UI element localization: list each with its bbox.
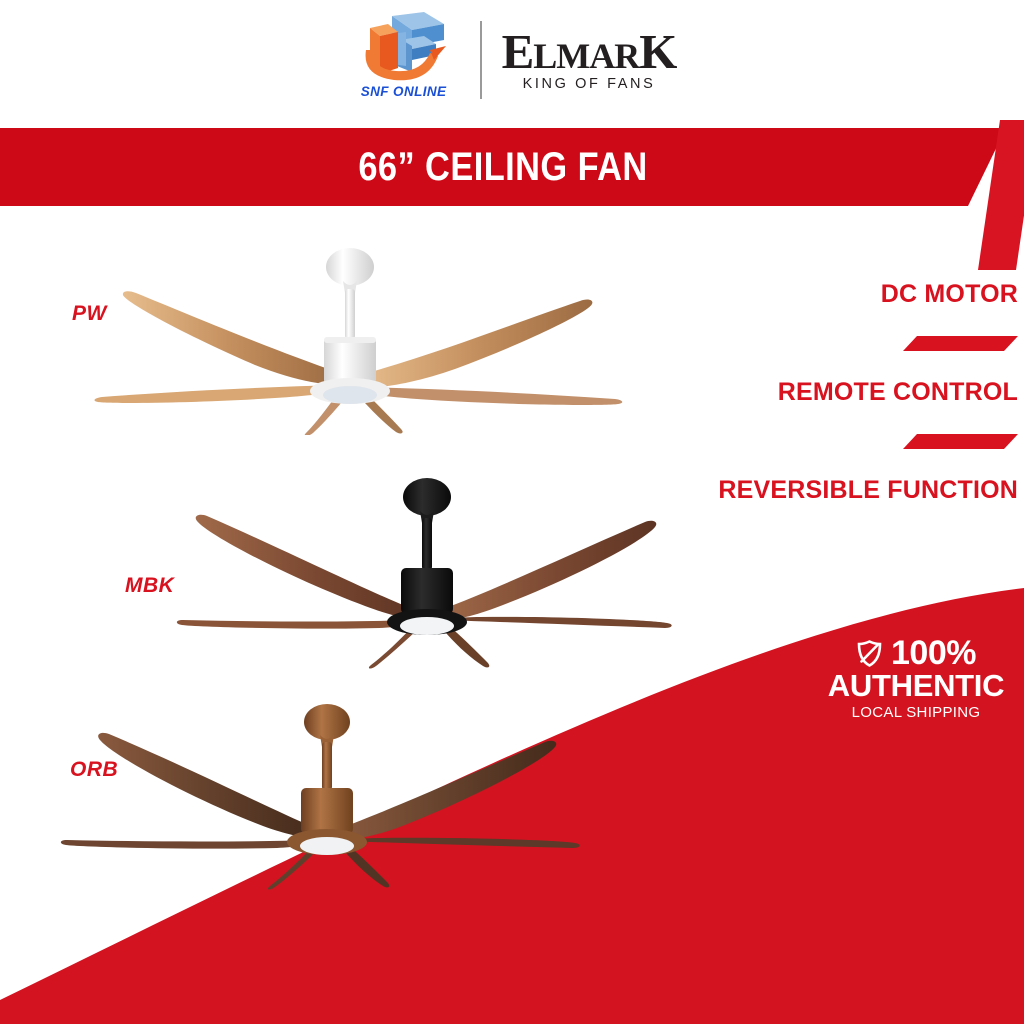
fan-blade	[360, 300, 592, 388]
ceiling-fan-pw-illustration	[40, 245, 660, 435]
badge-authentic-label: AUTHENTIC	[816, 670, 1016, 703]
badge-percent: 100%	[891, 636, 976, 670]
feature-dc-motor: DC MOTOR	[881, 280, 1018, 309]
fan-canopy	[304, 704, 350, 740]
ceiling-fan-mbk-illustration	[175, 470, 675, 670]
snf-online-logo-mark	[348, 10, 460, 84]
feature-remote-control: REMOTE CONTROL	[778, 378, 1018, 407]
feature-separator-1	[903, 336, 1018, 351]
fan-canopy	[403, 478, 451, 516]
fan-motor-housing	[401, 568, 453, 614]
ceiling-fan-orb-illustration	[45, 700, 615, 890]
product-listing-image: SNF ONLINE ELMARK KING OF FANS 66” CEILI…	[0, 0, 1024, 1024]
feature-separator-2	[903, 434, 1018, 449]
snf-logo-icon	[348, 10, 460, 84]
snf-online-logo: SNF ONLINE	[348, 10, 460, 110]
page-title: 66” CEILING FAN	[70, 128, 935, 206]
fan-blade	[196, 515, 418, 620]
fan-canopy	[326, 248, 374, 286]
fan-downrod	[422, 518, 432, 570]
badge-shipping-label: LOCAL SHIPPING	[816, 703, 1016, 723]
fan-motor-housing	[324, 337, 376, 385]
snf-online-logo-text: SNF ONLINE	[348, 84, 460, 99]
product-image-mbk: MBK	[175, 470, 675, 675]
elmark-brand-logo: ELMARK KING OF FANS	[502, 28, 677, 92]
feature-reversible-function: REVERSIBLE FUNCTION	[718, 476, 1018, 505]
elmark-name-body: LMAR	[533, 36, 639, 76]
fan-blade	[98, 733, 317, 839]
header: SNF ONLINE ELMARK KING OF FANS	[0, 0, 1024, 120]
fan-blade	[340, 838, 580, 848]
fan-downrod	[345, 289, 355, 339]
elmark-name-tail: K	[639, 24, 676, 79]
fan-blade	[438, 521, 656, 621]
fan-blade	[61, 840, 315, 849]
fan-blade	[177, 620, 416, 629]
variant-label-mbk: MBK	[125, 574, 174, 598]
variant-label-pw: PW	[72, 302, 107, 326]
elmark-tagline: KING OF FANS	[523, 76, 656, 92]
fan-blade	[361, 387, 622, 405]
check-shield-icon	[856, 640, 883, 667]
fan-blade	[95, 385, 343, 403]
fan-motor-housing	[301, 788, 353, 834]
header-divider	[480, 21, 482, 99]
product-image-pw: PW	[40, 245, 660, 440]
variant-label-orb: ORB	[70, 758, 118, 782]
fan-blade	[339, 741, 556, 840]
fan-downrod	[322, 742, 332, 790]
fan-blade	[123, 291, 340, 385]
fan-blade	[440, 617, 672, 628]
elmark-brand-name: ELMARK	[502, 28, 677, 75]
elmark-name-head: E	[502, 24, 534, 79]
authenticity-badge: 100% AUTHENTIC LOCAL SHIPPING	[816, 636, 1016, 722]
product-image-orb: ORB	[45, 700, 615, 895]
badge-top-row: 100%	[816, 636, 1016, 670]
